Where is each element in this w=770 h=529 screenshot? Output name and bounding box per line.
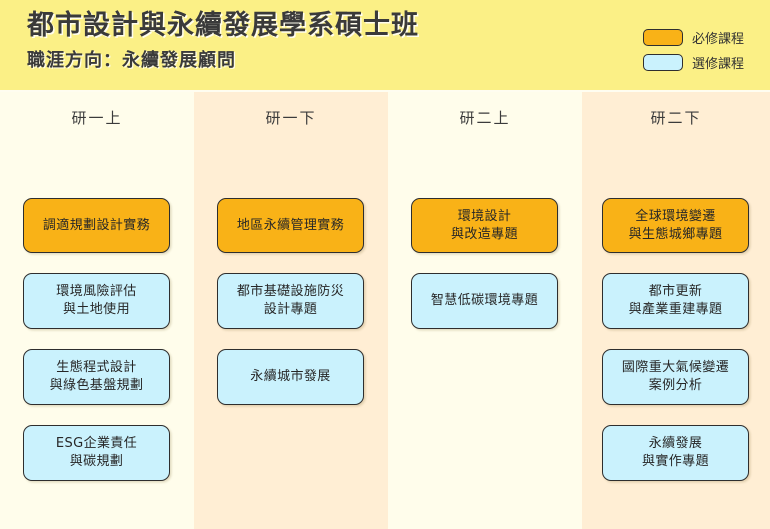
course-card-label: 地區永續管理實務 (237, 217, 344, 235)
semester-column-4: 研二下全球環境變遷與生態城鄉專題都市更新與產業重建專題國際重大氣候變遷案例分析永… (582, 92, 770, 529)
course-card-label: 智慧低碳環境專題 (431, 292, 538, 310)
legend-swatch-elective (643, 54, 683, 71)
course-card-label: 都市基礎設施防災設計專題 (237, 283, 344, 319)
course-card[interactable]: 地區永續管理實務 (217, 198, 364, 253)
course-card[interactable]: ESG企業責任與碳規劃 (23, 425, 170, 481)
course-card-label: ESG企業責任與碳規劃 (56, 435, 137, 471)
course-card[interactable]: 全球環境變遷與生態城鄉專題 (602, 198, 749, 253)
semester-columns: 研一上調適規劃設計實務環境風險評估與土地使用生態程式設計與綠色基盤規劃ESG企業… (0, 92, 770, 529)
curriculum-roadmap-page: 都市設計與永續發展學系碩士班 職涯方向：永續發展顧問 必修課程選修課程 研一上調… (0, 0, 770, 529)
course-card-label: 環境設計與改造專題 (451, 208, 518, 244)
legend-swatch-required (643, 29, 683, 46)
course-card[interactable]: 都市更新與產業重建專題 (602, 273, 749, 329)
page-title: 都市設計與永續發展學系碩士班 (27, 8, 419, 44)
legend-label: 選修課程 (692, 53, 744, 72)
title-block: 都市設計與永續發展學系碩士班 職涯方向：永續發展顧問 (27, 8, 419, 76)
legend: 必修課程選修課程 (643, 28, 744, 72)
semester-header: 研二下 (582, 92, 770, 130)
page-header: 都市設計與永續發展學系碩士班 職涯方向：永續發展顧問 必修課程選修課程 (0, 0, 770, 90)
course-card-label: 生態程式設計與綠色基盤規劃 (50, 359, 144, 395)
course-card[interactable]: 永續城市發展 (217, 349, 364, 405)
course-card[interactable]: 永續發展與實作專題 (602, 425, 749, 481)
semester-column-2: 研一下地區永續管理實務都市基礎設施防災設計專題永續城市發展 (194, 92, 388, 529)
course-card-label: 全球環境變遷與生態城鄉專題 (629, 208, 723, 244)
semester-header: 研二上 (388, 92, 582, 130)
course-card[interactable]: 環境設計與改造專題 (411, 198, 558, 253)
semester-header: 研一下 (194, 92, 388, 130)
legend-item-elective: 選修課程 (643, 53, 744, 72)
legend-item-required: 必修課程 (643, 28, 744, 47)
course-card[interactable]: 調適規劃設計實務 (23, 198, 170, 253)
course-card-label: 調適規劃設計實務 (43, 217, 150, 235)
course-card-label: 永續發展與實作專題 (642, 435, 709, 471)
legend-label: 必修課程 (692, 28, 744, 47)
course-card[interactable]: 都市基礎設施防災設計專題 (217, 273, 364, 329)
course-card[interactable]: 國際重大氣候變遷案例分析 (602, 349, 749, 405)
semester-column-1: 研一上調適規劃設計實務環境風險評估與土地使用生態程式設計與綠色基盤規劃ESG企業… (0, 92, 194, 529)
course-card[interactable]: 智慧低碳環境專題 (411, 273, 558, 329)
semester-header: 研一上 (0, 92, 194, 130)
page-subtitle: 職涯方向：永續發展顧問 (27, 46, 419, 76)
course-card-label: 環境風險評估與土地使用 (56, 283, 136, 319)
semester-column-3: 研二上環境設計與改造專題智慧低碳環境專題 (388, 92, 582, 529)
course-card-label: 國際重大氣候變遷案例分析 (622, 359, 729, 395)
course-card[interactable]: 生態程式設計與綠色基盤規劃 (23, 349, 170, 405)
course-card-label: 都市更新與產業重建專題 (629, 283, 723, 319)
course-card-label: 永續城市發展 (250, 368, 330, 386)
course-card[interactable]: 環境風險評估與土地使用 (23, 273, 170, 329)
